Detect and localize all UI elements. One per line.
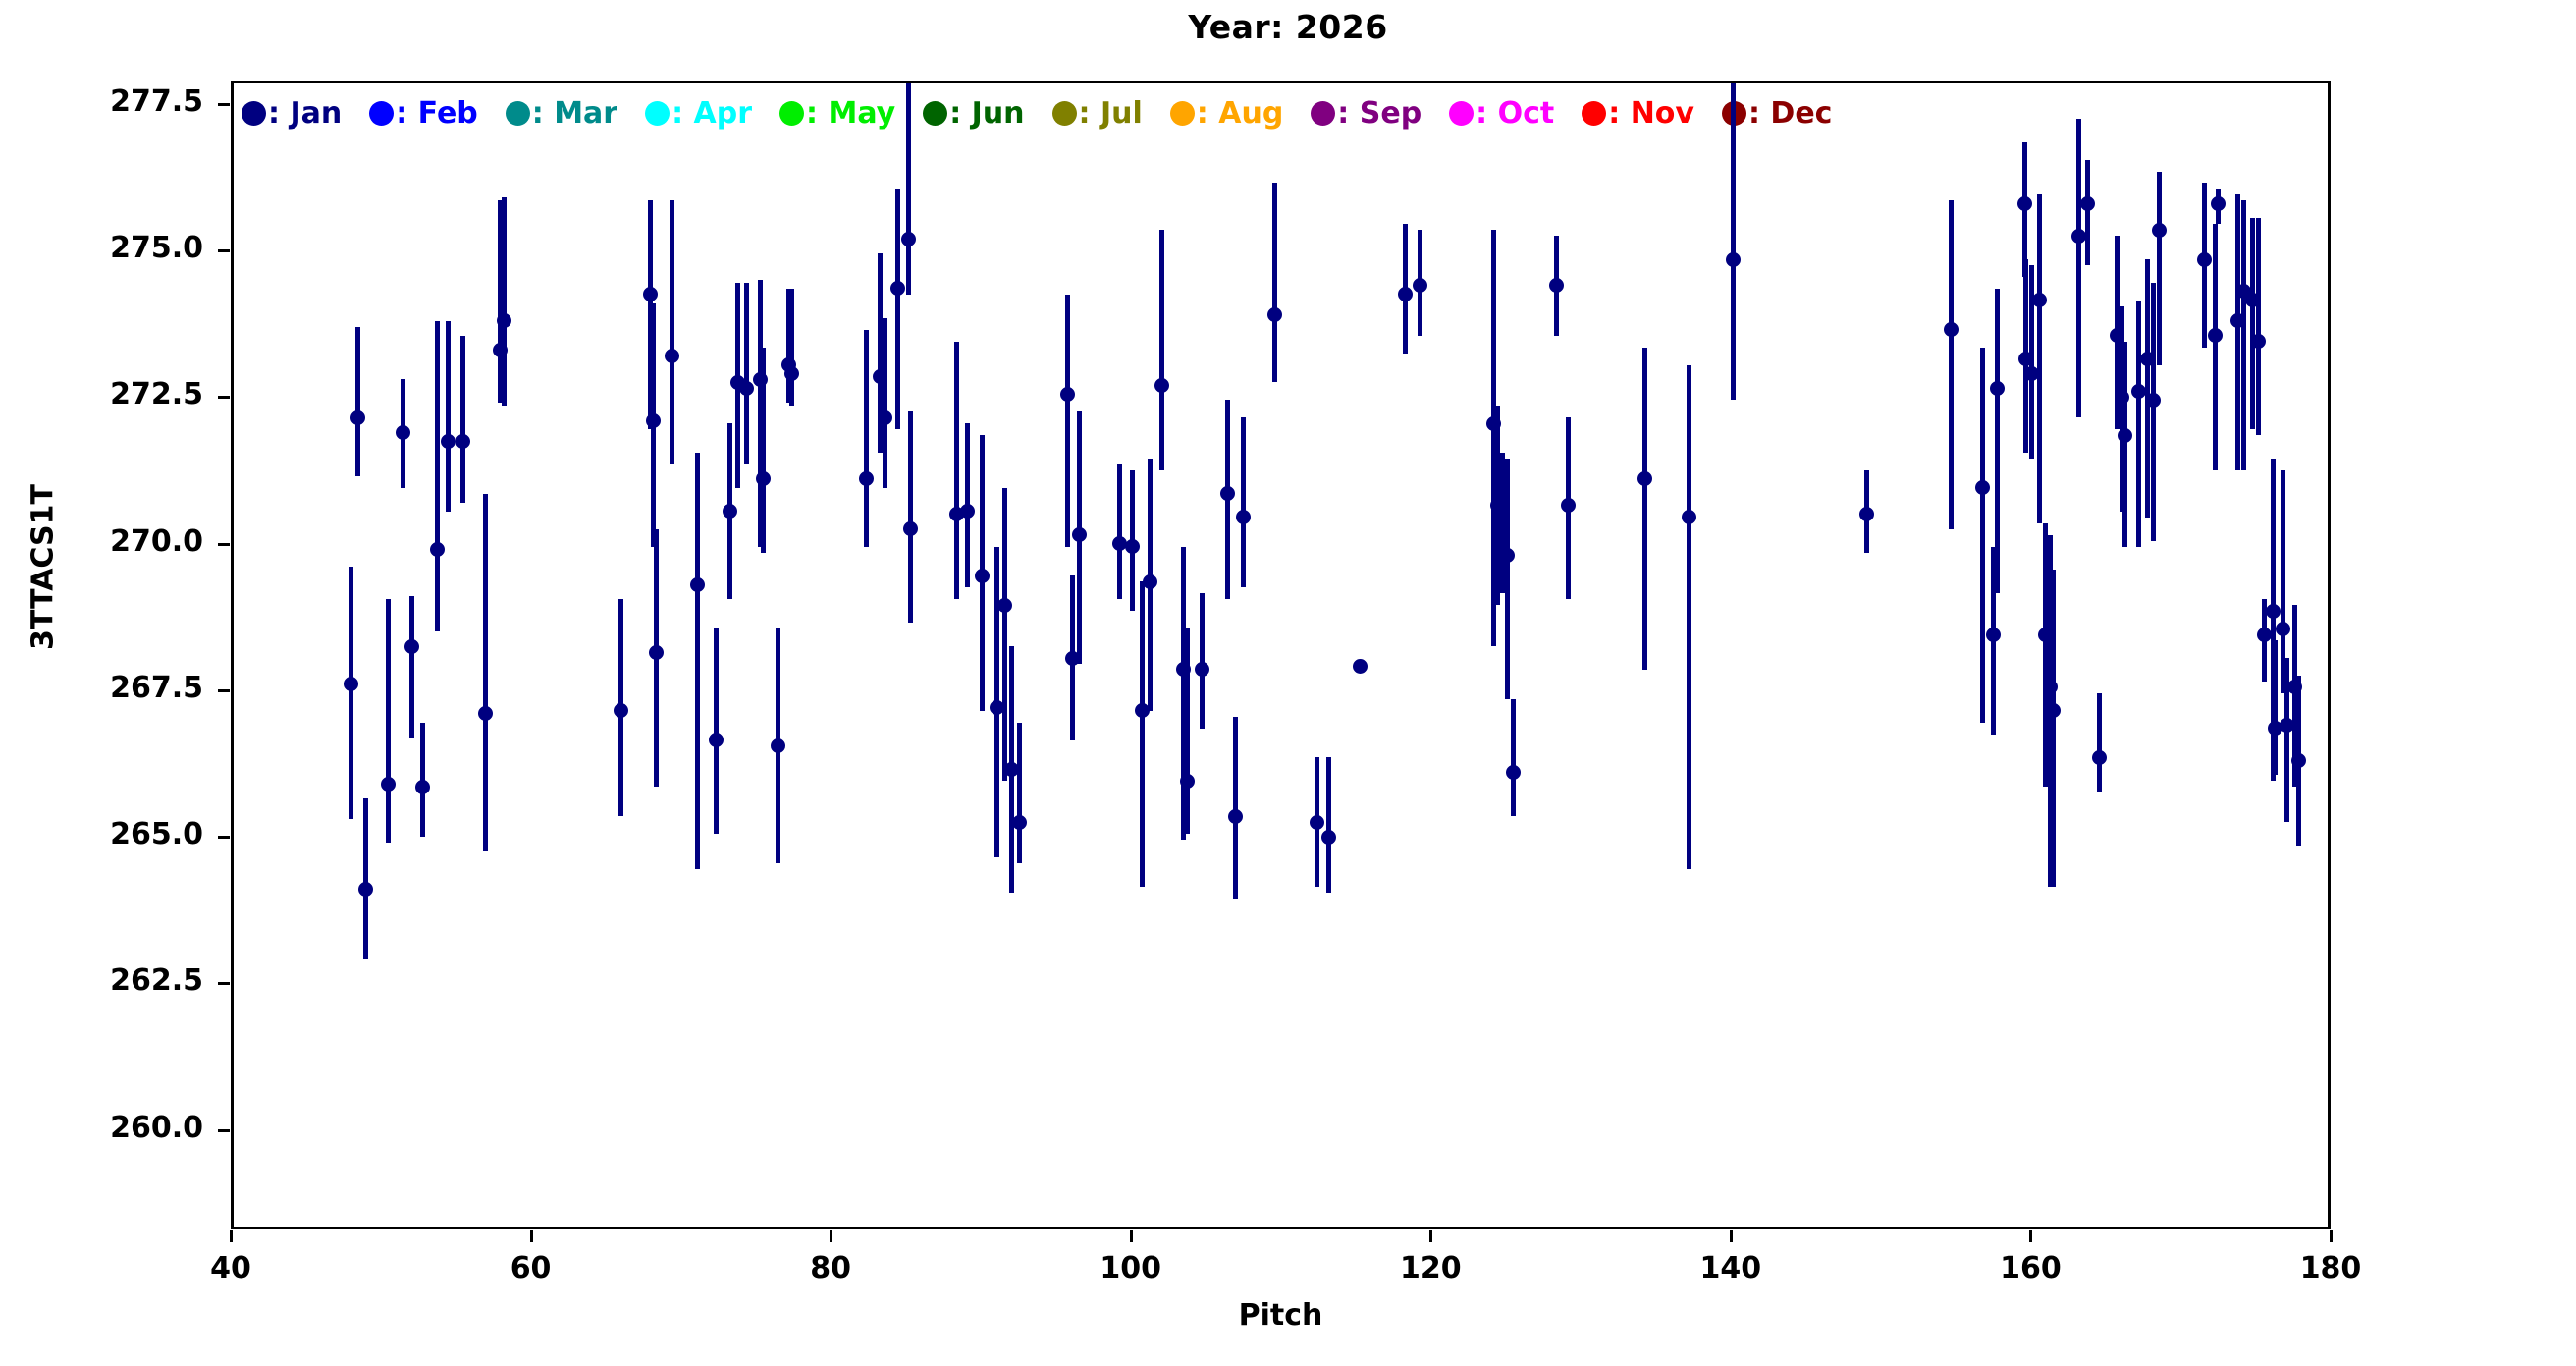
data-point — [1143, 574, 1157, 589]
error-bar — [1065, 295, 1070, 547]
error-bar — [1117, 464, 1122, 599]
data-point — [441, 434, 456, 449]
y-tick-label: 272.5 — [0, 377, 203, 411]
x-axis-label: Pitch — [231, 1298, 2331, 1333]
legend-marker-icon — [1311, 101, 1335, 126]
legend-marker-icon — [506, 101, 530, 126]
data-point — [2208, 328, 2223, 343]
legend-marker-icon — [779, 101, 804, 126]
data-point — [614, 703, 628, 718]
legend-item-apr: : Apr — [645, 96, 752, 131]
data-point — [1561, 498, 1576, 513]
data-point — [2032, 293, 2047, 307]
data-point — [690, 577, 705, 592]
x-tick-mark — [2330, 1230, 2333, 1242]
data-point — [2071, 229, 2086, 244]
data-point — [1637, 471, 1652, 486]
x-tick-mark — [2029, 1230, 2032, 1242]
y-tick-mark — [218, 1129, 230, 1132]
error-bar — [1272, 183, 1277, 382]
legend-item-mar: : Mar — [506, 96, 617, 131]
error-bar — [460, 336, 465, 503]
legend-label: : Feb — [396, 96, 478, 131]
data-point — [358, 882, 373, 897]
x-tick-mark — [230, 1230, 233, 1242]
figure: Year: 2026 3TTACS1T Pitch 277.5275.0272.… — [0, 0, 2576, 1366]
data-point — [739, 381, 754, 396]
error-bar — [1002, 488, 1007, 781]
error-bar — [2097, 693, 2102, 792]
error-bar — [1949, 200, 1954, 528]
x-tick-mark — [1429, 1230, 1432, 1242]
legend-marker-icon — [1052, 101, 1077, 126]
data-point — [756, 471, 771, 486]
data-point — [2017, 196, 2032, 211]
data-point — [1228, 809, 1243, 824]
data-point — [1154, 378, 1169, 393]
legend-label: : Jun — [949, 96, 1024, 131]
data-point — [975, 569, 990, 583]
data-point — [1726, 252, 1741, 267]
legend-marker-icon — [923, 101, 947, 126]
data-point — [1398, 287, 1413, 301]
data-point — [997, 598, 1012, 613]
legend-label: : Apr — [671, 96, 752, 131]
data-point — [344, 677, 358, 691]
error-bar — [1326, 757, 1331, 892]
error-bar — [1642, 348, 1647, 670]
data-point — [1012, 815, 1027, 830]
y-tick-mark — [218, 689, 230, 692]
error-bar — [1233, 717, 1238, 899]
error-bar — [363, 798, 368, 959]
y-axis-label: 3TTACS1T — [27, 440, 61, 695]
x-tick-label: 180 — [2300, 1251, 2362, 1285]
data-point — [2131, 384, 2146, 399]
error-bar — [2076, 119, 2081, 417]
legend-label: : Jan — [268, 96, 342, 131]
error-bar — [2145, 259, 2150, 518]
y-tick-mark — [218, 396, 230, 399]
x-tick-label: 100 — [1100, 1251, 1161, 1285]
error-bar — [714, 628, 719, 834]
data-point — [1500, 548, 1515, 563]
legend-label: : Jul — [1079, 96, 1143, 131]
x-tick-label: 40 — [210, 1251, 251, 1285]
data-point — [878, 410, 892, 425]
error-bar — [906, 83, 911, 295]
data-point — [2211, 196, 2226, 211]
legend-item-jun: : Jun — [923, 96, 1024, 131]
y-tick-label: 277.5 — [0, 84, 203, 119]
data-point — [1267, 307, 1282, 322]
error-bar — [502, 197, 507, 406]
error-bar — [695, 453, 700, 869]
chart-title: Year: 2026 — [0, 8, 2576, 46]
legend-item-nov: : Nov — [1582, 96, 1694, 131]
error-bar — [483, 494, 488, 851]
x-tick-mark — [1130, 1230, 1133, 1242]
data-point — [2046, 703, 2061, 718]
data-point — [2118, 428, 2132, 443]
plot-area: : Jan: Feb: Mar: Apr: May: Jun: Jul: Aug… — [231, 81, 2331, 1229]
y-tick-mark — [218, 543, 230, 546]
legend-marker-icon — [645, 101, 670, 126]
error-bar — [744, 283, 749, 464]
error-bar — [1185, 628, 1190, 834]
legend-item-dec: : Dec — [1722, 96, 1832, 131]
data-point — [2152, 223, 2167, 238]
error-bar — [1995, 289, 2000, 593]
legend: : Jan: Feb: Mar: Apr: May: Jun: Jul: Aug… — [234, 83, 2331, 142]
data-point — [709, 733, 724, 747]
x-tick-mark — [530, 1230, 533, 1242]
y-tick-label: 267.5 — [0, 671, 203, 705]
data-point — [350, 410, 365, 425]
error-bar — [954, 342, 959, 600]
data-point — [2291, 753, 2306, 768]
data-point — [665, 349, 679, 363]
legend-label: : Mar — [532, 96, 617, 131]
data-point — [1060, 387, 1075, 402]
legend-item-may: : May — [779, 96, 895, 131]
error-bar — [1200, 593, 1205, 728]
error-bar — [2037, 194, 2042, 522]
data-point — [415, 780, 430, 794]
legend-item-feb: : Feb — [369, 96, 478, 131]
error-bar — [2085, 160, 2090, 265]
data-point — [1986, 628, 2001, 642]
error-bar — [761, 348, 766, 553]
x-tick-label: 120 — [1400, 1251, 1462, 1285]
error-bar — [386, 599, 391, 843]
data-point — [2276, 622, 2290, 636]
data-point — [1072, 527, 1087, 542]
error-bar — [895, 189, 900, 429]
data-point — [2251, 334, 2266, 349]
x-tick-label: 160 — [2000, 1251, 2062, 1285]
error-bar — [1731, 83, 1736, 400]
error-bar — [349, 567, 353, 819]
error-bar — [2051, 570, 2056, 886]
error-bar — [1505, 459, 1510, 699]
error-bar — [435, 321, 440, 631]
data-point — [1125, 539, 1140, 554]
data-point — [2266, 604, 2281, 619]
data-point — [2197, 252, 2212, 267]
error-bar — [409, 596, 414, 737]
x-tick-label: 140 — [1700, 1251, 1762, 1285]
data-point — [396, 425, 410, 440]
error-bar — [2250, 218, 2255, 429]
data-point — [1180, 774, 1195, 789]
data-point — [1975, 480, 1990, 495]
legend-item-aug: : Aug — [1170, 96, 1284, 131]
data-point — [1220, 486, 1235, 501]
data-point — [1506, 765, 1521, 780]
error-bar — [2151, 283, 2156, 541]
data-point — [1682, 510, 1696, 524]
data-point — [646, 413, 661, 428]
y-tick-mark — [218, 836, 230, 839]
data-point — [1236, 510, 1251, 524]
data-point — [456, 434, 470, 449]
data-point — [1990, 381, 2005, 396]
legend-marker-icon — [1170, 101, 1195, 126]
data-point — [960, 504, 975, 519]
data-point — [404, 639, 419, 654]
legend-item-oct: : Oct — [1449, 96, 1554, 131]
error-bar — [1687, 365, 1691, 869]
data-point — [2092, 750, 2107, 765]
y-tick-label: 260.0 — [0, 1111, 203, 1145]
data-point — [381, 777, 396, 792]
legend-label: : Aug — [1197, 96, 1284, 131]
error-bar — [2241, 200, 2246, 470]
y-tick-mark — [218, 103, 230, 106]
data-point — [723, 504, 737, 519]
error-bar — [883, 318, 887, 488]
error-bar — [2122, 342, 2127, 547]
error-bar — [2235, 194, 2240, 470]
error-bar — [355, 327, 360, 476]
x-tick-label: 80 — [810, 1251, 851, 1285]
error-bar — [2256, 218, 2261, 435]
error-bar — [2273, 640, 2278, 775]
data-point — [1859, 507, 1874, 521]
error-bar — [1980, 348, 1985, 723]
data-point — [859, 471, 874, 486]
data-point — [1944, 322, 1959, 337]
data-point — [771, 738, 785, 753]
error-bar — [446, 321, 451, 512]
data-point — [2146, 393, 2161, 408]
data-point — [890, 281, 905, 296]
error-bar — [2157, 172, 2162, 365]
data-point — [478, 706, 493, 721]
error-bar — [2136, 301, 2141, 547]
legend-item-jan: : Jan — [241, 96, 342, 131]
data-point — [643, 287, 658, 301]
legend-label: : Nov — [1608, 96, 1694, 131]
data-point — [1195, 662, 1209, 677]
legend-marker-icon — [241, 101, 266, 126]
x-tick-mark — [830, 1230, 832, 1242]
data-point — [784, 366, 799, 381]
data-point — [649, 645, 664, 660]
error-bar — [1511, 699, 1516, 816]
error-bar — [864, 330, 869, 547]
legend-label: : May — [806, 96, 895, 131]
data-point — [1353, 659, 1368, 674]
legend-label: : Dec — [1748, 96, 1832, 131]
y-tick-label: 275.0 — [0, 231, 203, 265]
data-point — [901, 232, 916, 246]
y-tick-mark — [218, 249, 230, 252]
error-bar — [1241, 417, 1246, 587]
data-point — [903, 521, 918, 536]
error-bar — [908, 411, 913, 623]
data-point — [1549, 278, 1564, 293]
error-bar — [1017, 723, 1022, 863]
data-point — [2080, 196, 2095, 211]
legend-marker-icon — [369, 101, 394, 126]
legend-marker-icon — [1449, 101, 1474, 126]
legend-label: : Oct — [1476, 96, 1554, 131]
error-bar — [2213, 224, 2218, 470]
data-point — [1310, 815, 1324, 830]
data-point — [1413, 278, 1427, 293]
error-bar — [789, 289, 794, 406]
y-tick-label: 270.0 — [0, 524, 203, 559]
x-tick-mark — [1730, 1230, 1733, 1242]
legend-label: : Sep — [1337, 96, 1422, 131]
error-bar — [1159, 230, 1164, 470]
data-point — [430, 542, 445, 557]
y-tick-label: 262.5 — [0, 963, 203, 998]
y-tick-label: 265.0 — [0, 817, 203, 851]
legend-item-jul: : Jul — [1052, 96, 1143, 131]
y-tick-mark — [218, 982, 230, 985]
data-point — [1321, 830, 1336, 845]
data-point — [497, 313, 511, 328]
legend-item-sep: : Sep — [1311, 96, 1422, 131]
error-bar — [1140, 581, 1145, 886]
error-bar — [670, 200, 674, 464]
data-point — [2257, 628, 2272, 642]
legend-marker-icon — [1582, 101, 1606, 126]
x-tick-label: 60 — [510, 1251, 552, 1285]
